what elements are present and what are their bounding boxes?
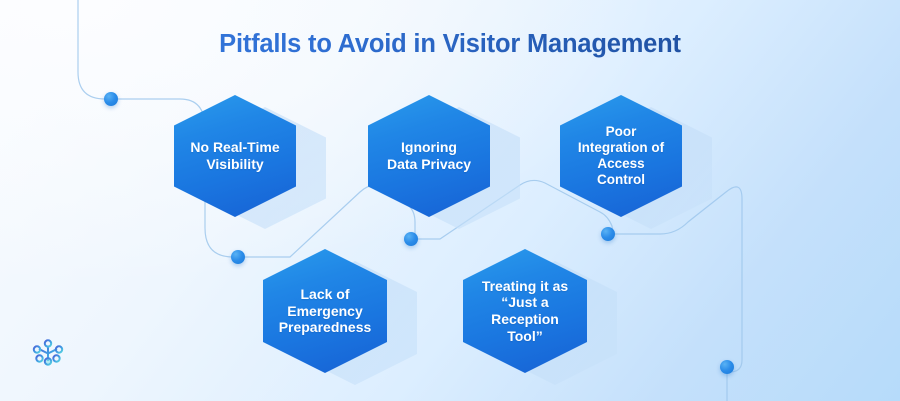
hexagon-label-poor-integration-of-access-control: Poor Integration of Access Control bbox=[568, 124, 674, 188]
dot-5 bbox=[720, 360, 734, 374]
dot-2 bbox=[231, 250, 245, 264]
hexagon-label-treating-it-as-just-a-reception-tool: Treating it as “Just a Reception Tool” bbox=[472, 278, 578, 344]
infographic-canvas: Pitfalls to Avoid in Visitor Management … bbox=[0, 0, 900, 401]
dot-3 bbox=[404, 232, 418, 246]
hexagon-label-lack-of-emergency-preparedness: Lack of Emergency Preparedness bbox=[269, 286, 382, 336]
page-title: Pitfalls to Avoid in Visitor Management bbox=[0, 30, 900, 59]
hexagon-label-no-real-time-visibility: No Real-Time Visibility bbox=[180, 139, 289, 172]
node-network-icon bbox=[28, 334, 68, 374]
dot-1 bbox=[104, 92, 118, 106]
hexagon-label-ignoring-data-privacy: Ignoring Data Privacy bbox=[377, 139, 481, 172]
dot-4 bbox=[601, 227, 615, 241]
